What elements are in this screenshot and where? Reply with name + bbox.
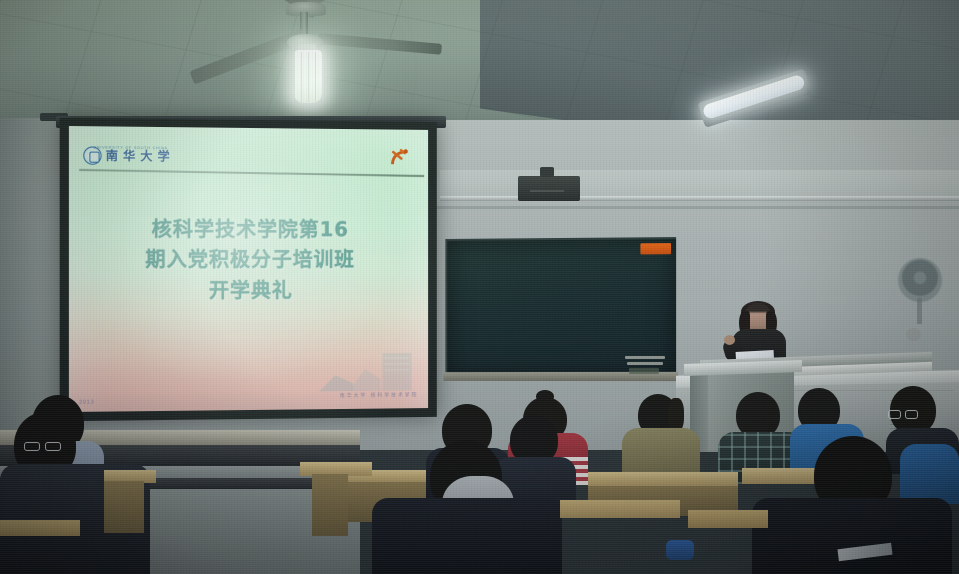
- blue-bag: [666, 540, 694, 560]
- wall-speaker: [518, 176, 580, 201]
- classroom-photo: 南华大学 UNIVERSITY OF SOUTH CHINA 核科学技术学院第1…: [0, 0, 959, 574]
- bulb-tube-detail: [294, 52, 322, 102]
- olive-jacket: [622, 428, 700, 478]
- desk-front-right: [560, 500, 680, 518]
- presenter-hand: [724, 335, 735, 345]
- board-corner-sticker: [640, 243, 671, 254]
- wall-seam-lower: [436, 206, 959, 209]
- slide-title-line-2: 期入党积极分子培训班: [85, 244, 412, 275]
- slide-title-line-1: 核科学技术学院第16: [85, 213, 412, 244]
- student-center-hoodie: [372, 440, 562, 574]
- slide-footnote-right: 南华大学 核科学技术学院: [340, 391, 419, 399]
- dark-hoodie: [372, 498, 562, 574]
- wall-socket: [906, 328, 921, 341]
- presentation-slide: 南华大学 UNIVERSITY OF SOUTH CHINA 核科学技术学院第1…: [69, 126, 428, 412]
- campus-building-artwork: [319, 349, 422, 391]
- student-center-olive: [626, 394, 696, 474]
- header-divider: [79, 169, 424, 177]
- desk-front-center-leg: [312, 474, 348, 536]
- glasses-icon: [888, 410, 922, 419]
- university-name-cn: 南华大学: [106, 150, 175, 163]
- slide-title: 核科学技术学院第16 期入党积极分子培训班 开学典礼: [69, 213, 428, 305]
- dark-coat: [752, 498, 952, 574]
- student-front-right-dark: [752, 436, 952, 574]
- chair-front-left: [0, 520, 80, 536]
- chalk-and-eraser: [625, 354, 669, 374]
- slide-title-line-3: 开学典礼: [85, 275, 412, 306]
- glasses-icon: [24, 442, 66, 451]
- hammer-and-sickle-icon: [387, 145, 412, 169]
- wall-fan-stem: [917, 298, 922, 324]
- projection-screen: 南华大学 UNIVERSITY OF SOUTH CHINA 核科学技术学院第1…: [60, 118, 437, 421]
- ponytail: [668, 398, 684, 432]
- desk-front-far-right: [688, 510, 768, 528]
- university-name-en: UNIVERSITY OF SOUTH CHINA: [93, 146, 167, 151]
- desk-front-left-leg: [104, 481, 144, 533]
- wall-mounted-fan: [898, 258, 942, 302]
